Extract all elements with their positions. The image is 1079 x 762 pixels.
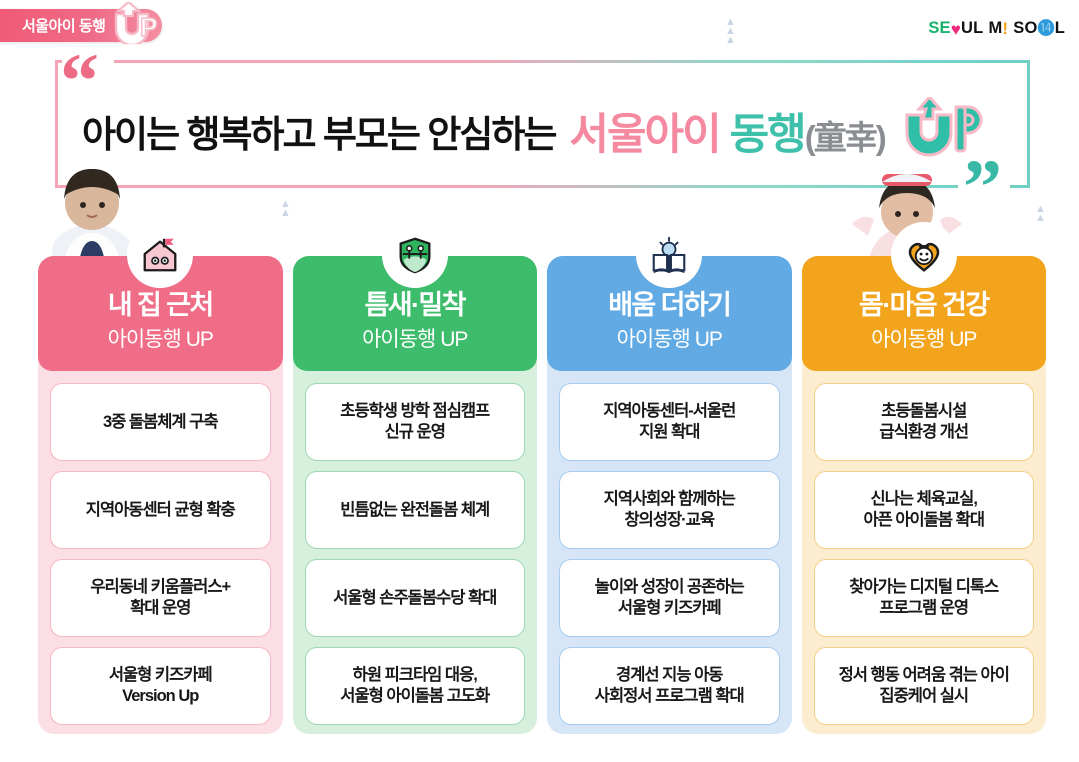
headline-accent-pink: 서울아이 bbox=[569, 111, 729, 159]
heart-with-smiley-icon bbox=[891, 222, 957, 288]
logo-so: SO bbox=[1013, 20, 1037, 37]
list-item[interactable]: 하원 피크타임 대응,서울형 아이돌봄 고도화 bbox=[305, 647, 526, 725]
column-gap-closeness: 틈새·밀착 아이동행 UP 초등학생 방학 점심캠프신규 운영 빈틈없는 완전돌… bbox=[293, 256, 538, 734]
list-item[interactable]: 초등돌봄시설급식환경 개선 bbox=[814, 383, 1035, 461]
logo-exclamation-icon: ! bbox=[1002, 20, 1008, 37]
list-item[interactable]: 지역아동센터 균형 확충 bbox=[50, 471, 271, 549]
ribbon-label: 서울아이 동행 bbox=[22, 15, 105, 36]
logo-heart-icon: ♥ bbox=[951, 21, 961, 38]
column-items: 초등학생 방학 점심캠프신규 운영 빈틈없는 완전돌봄 체계 서울형 손주돌봄수… bbox=[293, 371, 538, 725]
list-item[interactable]: 지역아동센터-서울런지원 확대 bbox=[559, 383, 780, 461]
infographic-page: 서울아이 동행 P SE♥ULM!SO⓮L ▲▲▲ ▲▲ ▲▲ “ ” 아이는 … bbox=[0, 0, 1079, 762]
column-my-neighborhood: 내 집 근처 아이동행 UP 3중 돌봄체계 구축 지역아동센터 균형 확충 우… bbox=[38, 256, 283, 734]
column-title: 내 집 근처 bbox=[46, 290, 275, 320]
list-item[interactable]: 지역사회와 함께하는창의성장·교육 bbox=[559, 471, 780, 549]
headline: 아이는 행복하고 부모는 안심하는 서울아이 동행(童幸) bbox=[82, 100, 985, 162]
column-body-mind-health: 몸·마음 건강 아이동행 UP 초등돌봄시설급식환경 개선 신나는 체육교실,아… bbox=[802, 256, 1047, 734]
column-subtitle: 아이동행 UP bbox=[555, 323, 784, 353]
headline-plain-text: 아이는 행복하고 부모는 안심하는 bbox=[82, 104, 555, 158]
column-subtitle: 아이동행 UP bbox=[46, 323, 275, 353]
column-subtitle: 아이동행 UP bbox=[301, 323, 530, 353]
book-with-lightbulb-icon bbox=[636, 222, 702, 288]
ribbon-up-logo-icon: P bbox=[110, 2, 158, 44]
column-items: 3중 돌봄체계 구축 지역아동센터 균형 확충 우리동네 키움플러스+확대 운영… bbox=[38, 371, 283, 725]
headline-accent-text: 서울아이 동행(童幸) bbox=[569, 100, 884, 162]
seoul-my-soul-logo: SE♥ULM!SO⓮L bbox=[928, 20, 1065, 37]
list-item[interactable]: 서울형 손주돌봄수당 확대 bbox=[305, 559, 526, 637]
column-items: 초등돌봄시설급식환경 개선 신나는 체육교실,아픈 아이돌봄 확대 찾아가는 디… bbox=[802, 371, 1047, 725]
column-title: 틈새·밀착 bbox=[301, 290, 530, 320]
list-item[interactable]: 정서 행동 어려움 겪는 아이집중케어 실시 bbox=[814, 647, 1035, 725]
logo-l: L bbox=[1055, 20, 1065, 37]
logo-smile-icon: ⓮ bbox=[1038, 20, 1055, 37]
house-with-flag-icon bbox=[127, 222, 193, 288]
logo-ul: UL bbox=[961, 20, 983, 37]
list-item[interactable]: 신나는 체육교실,아픈 아이돌봄 확대 bbox=[814, 471, 1035, 549]
chevron-decoration-left: ▲▲ bbox=[280, 200, 291, 218]
list-item[interactable]: 찾아가는 디지털 디톡스프로그램 운영 bbox=[814, 559, 1035, 637]
logo-se: SE bbox=[928, 20, 950, 37]
headline-up-logo-icon bbox=[899, 97, 985, 159]
list-item[interactable]: 초등학생 방학 점심캠프신규 운영 bbox=[305, 383, 526, 461]
list-item[interactable]: 놀이와 성장이 공존하는서울형 키즈카페 bbox=[559, 559, 780, 637]
shield-with-children-icon bbox=[382, 222, 448, 288]
list-item[interactable]: 빈틈없는 완전돌봄 체계 bbox=[305, 471, 526, 549]
logo-m: M bbox=[988, 20, 1002, 37]
column-title: 몸·마음 건강 bbox=[810, 290, 1039, 320]
column-subtitle: 아이동행 UP bbox=[810, 323, 1039, 353]
column-title: 배움 더하기 bbox=[555, 290, 784, 320]
list-item[interactable]: 우리동네 키움플러스+확대 운영 bbox=[50, 559, 271, 637]
headline-accent-hanja: (童幸) bbox=[805, 119, 885, 156]
headline-accent-green: 동행 bbox=[730, 111, 805, 159]
column-learning-plus: 배움 더하기 아이동행 UP 지역아동센터-서울런지원 확대 지역사회와 함께하… bbox=[547, 256, 792, 734]
list-item[interactable]: 3중 돌봄체계 구축 bbox=[50, 383, 271, 461]
chevron-decoration-right: ▲▲ bbox=[1035, 205, 1046, 223]
svg-text:P: P bbox=[140, 12, 157, 42]
pillar-columns: 내 집 근처 아이동행 UP 3중 돌봄체계 구축 지역아동센터 균형 확충 우… bbox=[38, 256, 1046, 734]
column-items: 지역아동센터-서울런지원 확대 지역사회와 함께하는창의성장·교육 놀이와 성장… bbox=[547, 371, 792, 725]
chevron-decoration-top: ▲▲▲ bbox=[725, 18, 736, 45]
list-item[interactable]: 경계선 지능 아동사회정서 프로그램 확대 bbox=[559, 647, 780, 725]
list-item[interactable]: 서울형 키즈카페Version Up bbox=[50, 647, 271, 725]
